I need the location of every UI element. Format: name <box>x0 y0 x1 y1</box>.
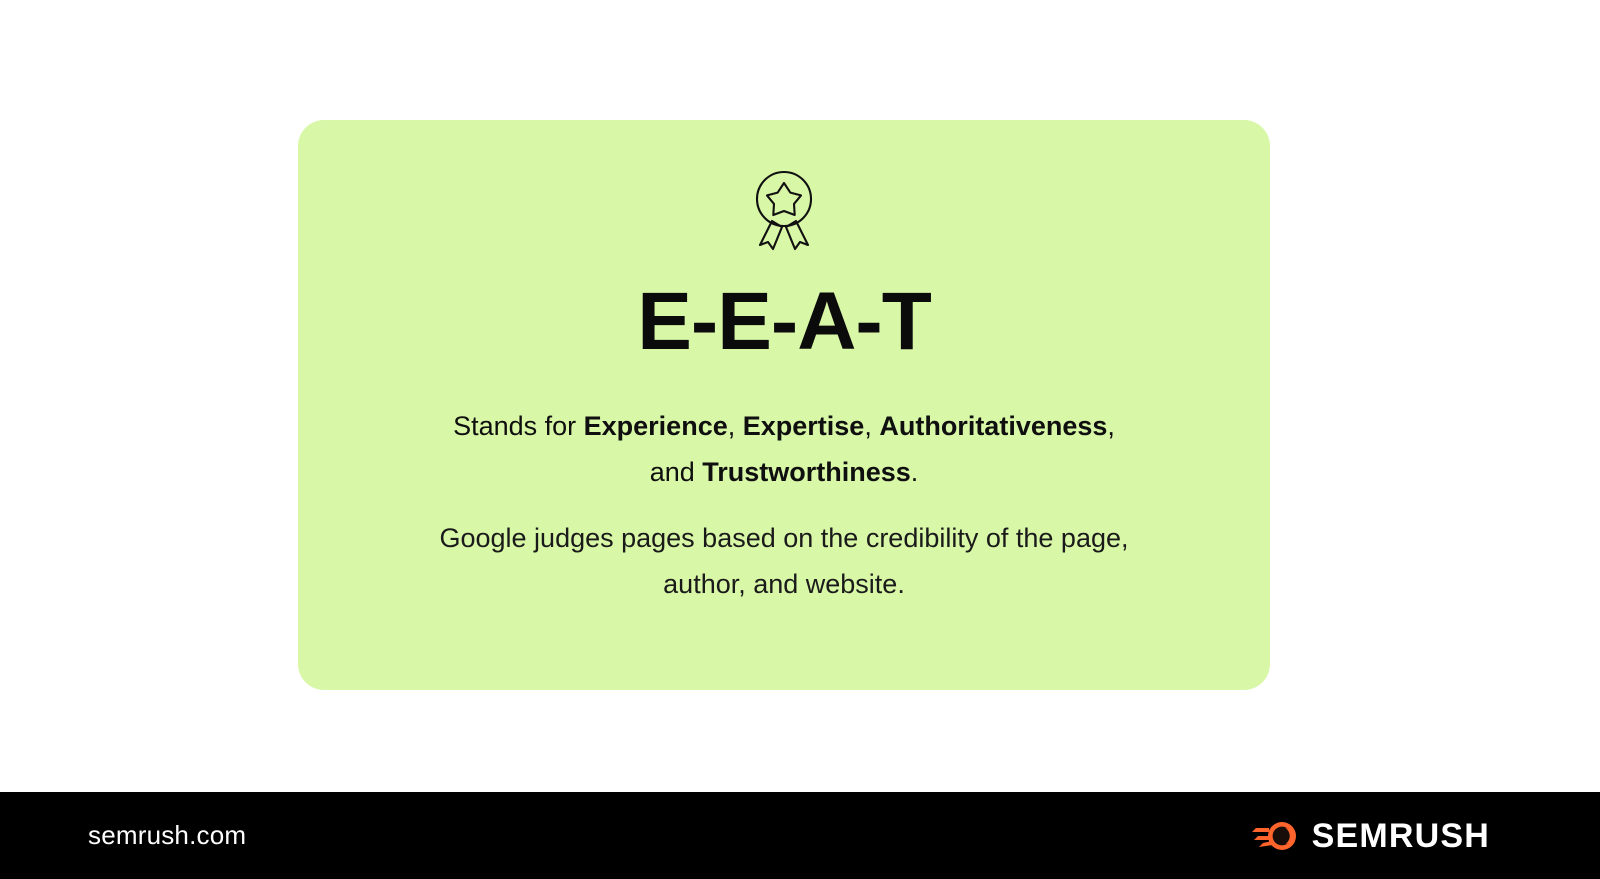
definition-separator-2: , <box>864 411 879 441</box>
definition-term-authoritativeness: Authoritativeness <box>879 411 1107 441</box>
description-line-1: Google judges pages based on the credibi… <box>439 523 978 553</box>
acronym-definition: Stands for Experience, Expertise, Author… <box>444 403 1124 495</box>
definition-term-expertise: Expertise <box>743 411 865 441</box>
semrush-comet-logo-icon <box>1252 819 1298 853</box>
footer-bar: semrush.com SEMRUSH <box>0 792 1600 879</box>
card-description: Google judges pages based on the credibi… <box>434 515 1134 607</box>
page-title: E-E-A-T <box>637 281 931 363</box>
eeat-info-card: E-E-A-T Stands for Experience, Expertise… <box>298 120 1270 690</box>
definition-prefix: Stands for <box>453 411 584 441</box>
semrush-wordmark: SEMRUSH <box>1312 819 1490 853</box>
slide-canvas: E-E-A-T Stands for Experience, Expertise… <box>0 0 1600 792</box>
definition-suffix: . <box>911 457 919 487</box>
definition-term-experience: Experience <box>584 411 728 441</box>
definition-separator-1: , <box>728 411 743 441</box>
definition-term-trustworthiness: Trustworthiness <box>702 457 911 487</box>
semrush-logo: SEMRUSH <box>1252 819 1490 853</box>
award-ribbon-icon <box>748 167 820 253</box>
footer-website-url: semrush.com <box>88 820 246 851</box>
